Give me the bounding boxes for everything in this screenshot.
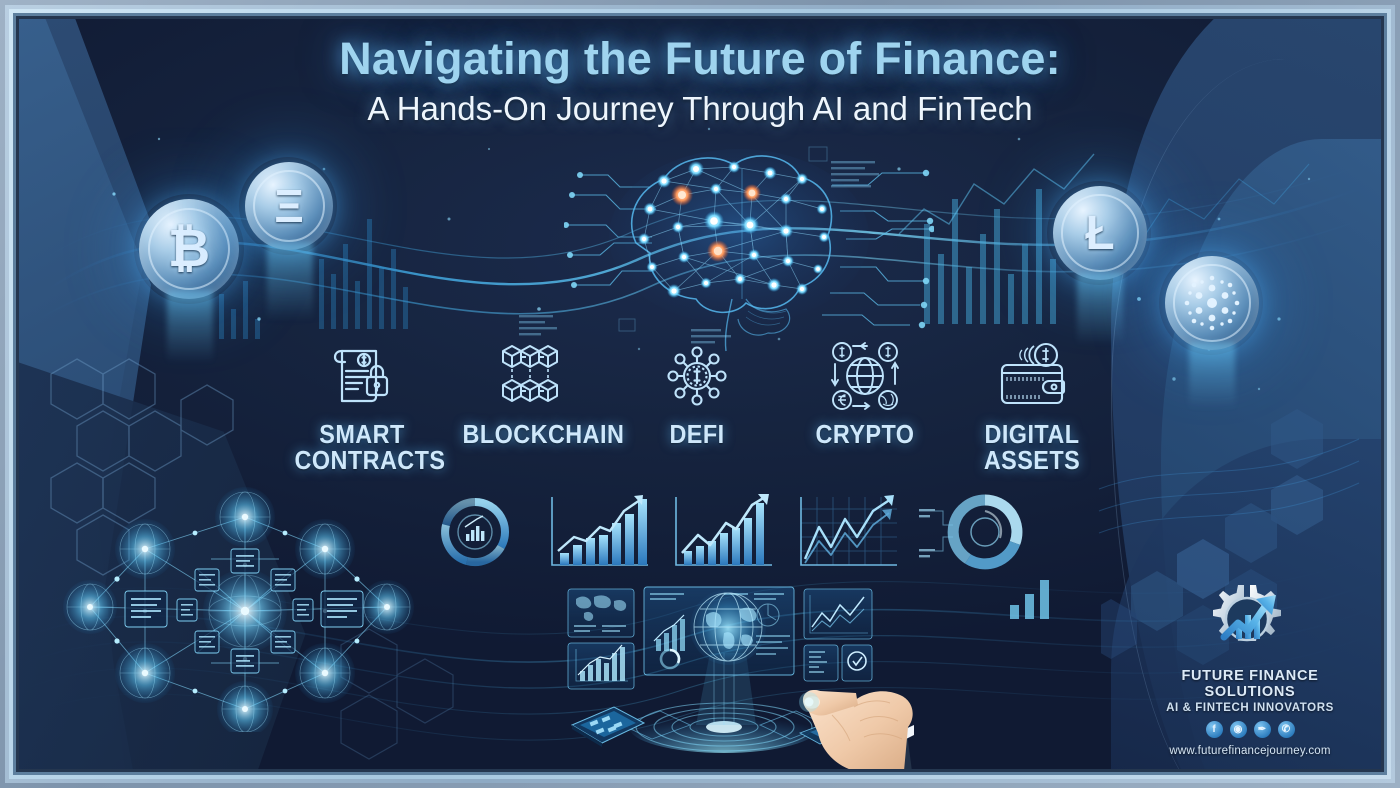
category-blockchain[interactable]: BLOCKCHAIN (455, 337, 605, 447)
category-label-line1: SMART (295, 421, 430, 447)
category-crypto[interactable]: CRYPTO (790, 337, 940, 447)
bar-arrow-growth-icon (668, 491, 780, 573)
brand-url[interactable]: www.futurefinancejourney.com (1135, 745, 1365, 757)
brand-name: FUTURE FINANCE SOLUTIONS (1135, 668, 1365, 700)
category-label-line1: BLOCKCHAIN (462, 421, 597, 447)
chart-icon-strip (419, 487, 1029, 577)
bar-line-growth-icon (544, 491, 656, 573)
crypto-globe-icon (790, 337, 940, 415)
category-label-line2: CONTRACTS (295, 447, 430, 473)
contract-lock-icon (287, 337, 437, 415)
twitter-icon[interactable]: ✒ (1254, 721, 1271, 738)
brand-block: FUTURE FINANCE SOLUTIONS AI & FINTECH IN… (1135, 576, 1365, 757)
category-smart-contracts[interactable]: SMART CONTRACTS (287, 337, 437, 473)
defi-nodes-icon (622, 337, 772, 415)
ring-chart-icon (917, 491, 1029, 573)
page-subtitle: A Hands-On Journey Through AI and FinTec… (19, 90, 1381, 128)
social-links: f ◉ ✒ ✆ (1135, 721, 1365, 738)
category-label-line1: DIGITAL (965, 421, 1100, 447)
whatsapp-icon[interactable]: ✆ (1278, 721, 1295, 738)
poster: Navigating the Future of Finance: A Hand… (0, 0, 1400, 788)
brand-tagline: AI & FINTECH INNOVATORS (1135, 702, 1365, 714)
line-grid-chart-icon (793, 491, 905, 573)
gear-growth-arrow-logo (1135, 576, 1365, 668)
category-label-line1: CRYPTO (797, 421, 932, 447)
page-title: Navigating the Future of Finance: (19, 33, 1381, 85)
blockchain-node-network (49, 487, 459, 732)
category-defi[interactable]: DEFI (622, 337, 772, 447)
title-block: Navigating the Future of Finance: A Hand… (19, 33, 1381, 128)
poster-canvas: Navigating the Future of Finance: A Hand… (19, 19, 1381, 769)
category-label-line2: ASSETS (965, 447, 1100, 473)
wallet-coins-icon (957, 337, 1107, 415)
category-row: SMART CONTRACTS (287, 337, 1107, 487)
blockchain-cubes-icon (455, 337, 605, 415)
donut-chart-icon (419, 491, 531, 573)
holographic-finance-dashboard (564, 575, 914, 769)
facebook-icon[interactable]: f (1206, 721, 1223, 738)
category-digital-assets[interactable]: DIGITAL ASSETS (957, 337, 1107, 473)
instagram-icon[interactable]: ◉ (1230, 721, 1247, 738)
mini-bar-cluster (1004, 574, 1064, 619)
category-label-line1: DEFI (630, 421, 765, 447)
